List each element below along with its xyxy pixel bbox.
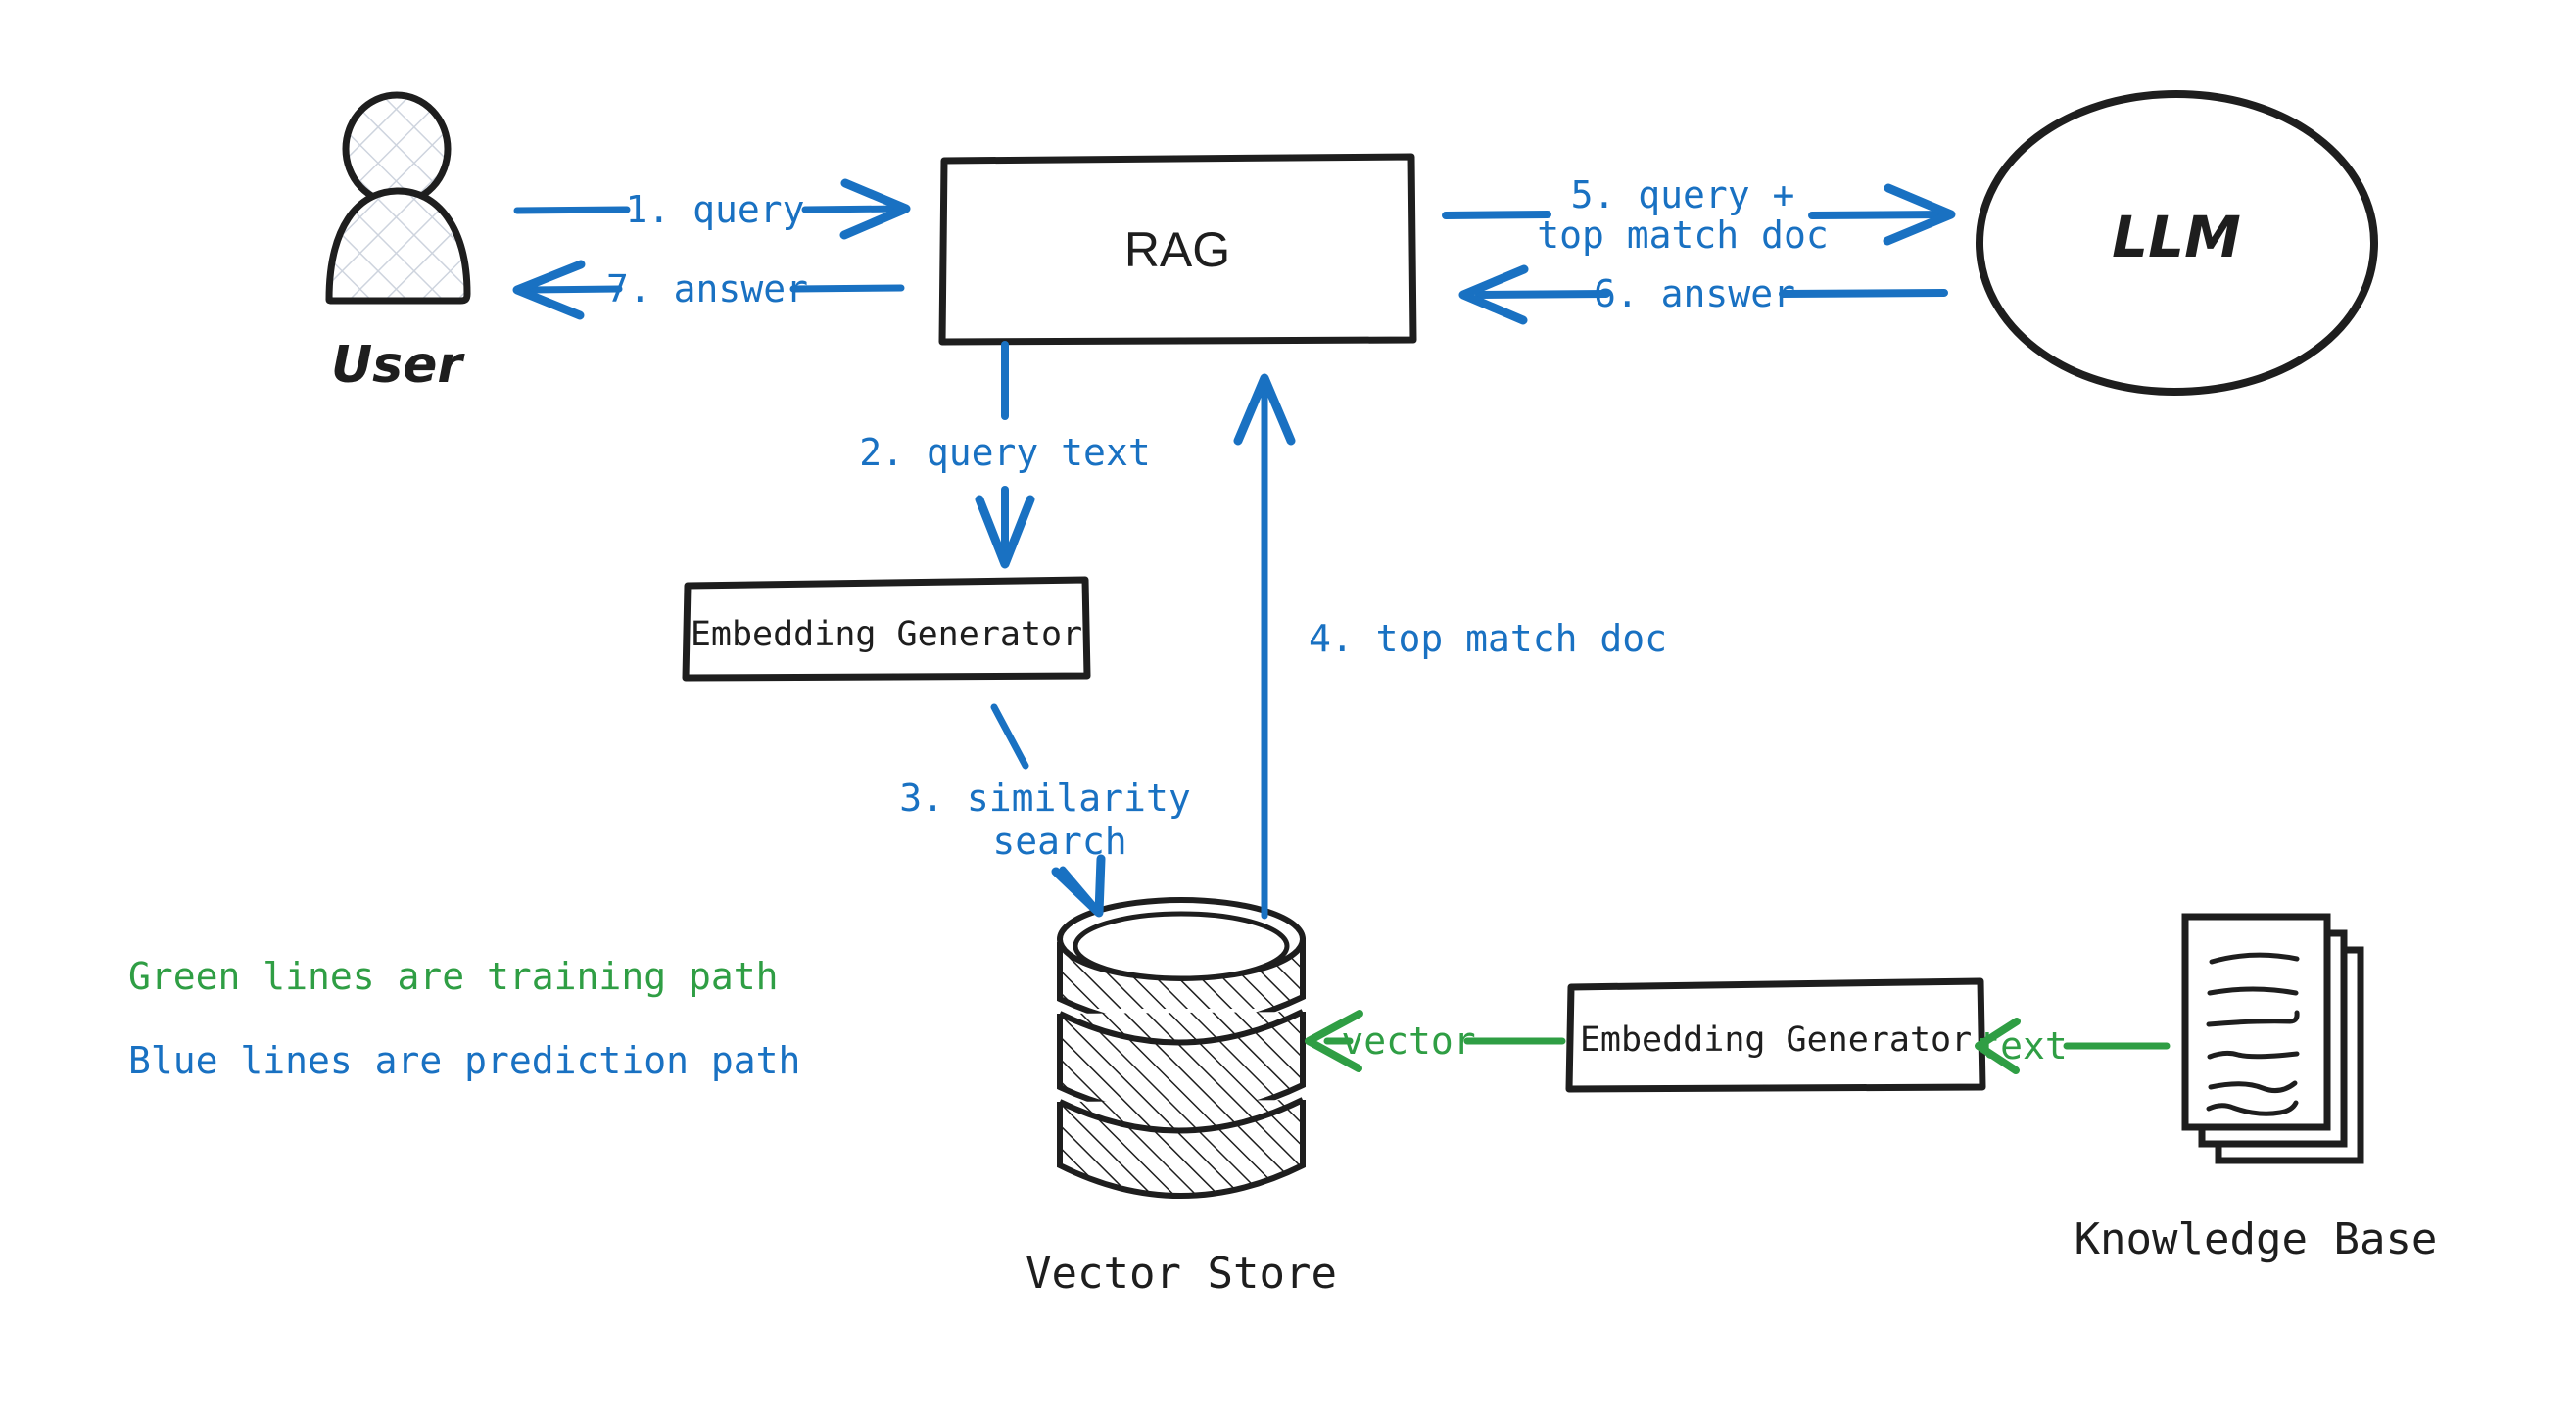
edge-3-line-top <box>994 707 1026 766</box>
embedding-generator-kb-label: Embedding Generator <box>1580 1020 1972 1060</box>
edge-5-label-line1: 5. query + <box>1571 173 1795 216</box>
edge-6-line-right <box>1783 293 1944 294</box>
edge-5-line-left <box>1446 214 1548 215</box>
edge-5-query-plus-doc[interactable]: 5. query + top match doc <box>1446 173 1951 257</box>
llm-node[interactable]: LLM <box>1980 94 2374 392</box>
embedding-generator-kb-node[interactable]: Embedding Generator <box>1569 981 1982 1089</box>
user-body-icon <box>329 191 467 301</box>
edge-3-label-line1: 3. similarity <box>899 777 1190 820</box>
edge-1-label: 1. query <box>625 188 804 231</box>
edge-training-vector-label: vector <box>1341 1019 1475 1063</box>
edge-training-vector[interactable]: vector <box>1309 1014 1562 1068</box>
edge-2-label: 2. query text <box>859 431 1150 474</box>
legend: Green lines are training path Blue lines… <box>128 955 800 1082</box>
edge-3-label-line2: search <box>992 820 1126 863</box>
vector-store-segment-top-icon <box>1060 900 1305 1027</box>
rag-label: RAG <box>1124 222 1230 277</box>
edge-5-line-right <box>1812 214 1944 215</box>
diagram-canvas: User RAG LLM Embedding Generator Embeddi… <box>0 0 2576 1422</box>
knowledge-base-node[interactable]: Knowledge Base <box>2075 917 2438 1264</box>
edge-4-label: 4. top match doc <box>1309 617 1667 660</box>
edge-training-text[interactable]: text <box>1978 1021 2167 1070</box>
vector-store-segment-bottom-icon <box>1060 1097 1305 1234</box>
edge-4-top-match-doc[interactable]: 4. top match doc <box>1238 378 1667 916</box>
edge-7-line-right <box>793 288 901 289</box>
rag-node[interactable]: RAG <box>942 157 1413 342</box>
legend-blue-line-label: Blue lines are prediction path <box>128 1039 800 1082</box>
edge-1-query[interactable]: 1. query <box>517 183 906 235</box>
embedding-generator-query-node[interactable]: Embedding Generator <box>686 580 1087 678</box>
edge-1-line-right <box>805 209 901 210</box>
edge-1-line-left <box>517 210 627 211</box>
user-node[interactable]: User <box>329 95 467 395</box>
llm-label: LLM <box>2112 204 2241 270</box>
user-label: User <box>331 336 465 395</box>
edge-5-label-line2: top match doc <box>1537 213 1828 257</box>
edge-7-line-left <box>529 289 619 290</box>
edge-6-line-left <box>1479 294 1606 295</box>
edge-3-similarity-search[interactable]: 3. similarity search <box>899 707 1190 913</box>
legend-green-line-label: Green lines are training path <box>128 955 778 998</box>
edge-2-query-text[interactable]: 2. query text <box>859 345 1150 564</box>
knowledge-base-label: Knowledge Base <box>2075 1214 2438 1264</box>
rag-architecture-diagram: User RAG LLM Embedding Generator Embeddi… <box>0 0 2576 1422</box>
vector-store-node[interactable]: Vector Store <box>1026 900 1337 1299</box>
edge-7-label: 7. answer <box>606 267 808 310</box>
edge-training-text-label: text <box>1978 1024 2068 1067</box>
edge-6-label: 6. answer <box>1594 272 1795 315</box>
embedding-generator-query-label: Embedding Generator <box>691 615 1082 654</box>
vector-store-label: Vector Store <box>1026 1249 1337 1299</box>
edge-7-answer[interactable]: 7. answer <box>517 264 901 315</box>
user-head-icon <box>346 95 448 203</box>
edge-6-answer[interactable]: 6. answer <box>1463 269 1944 320</box>
